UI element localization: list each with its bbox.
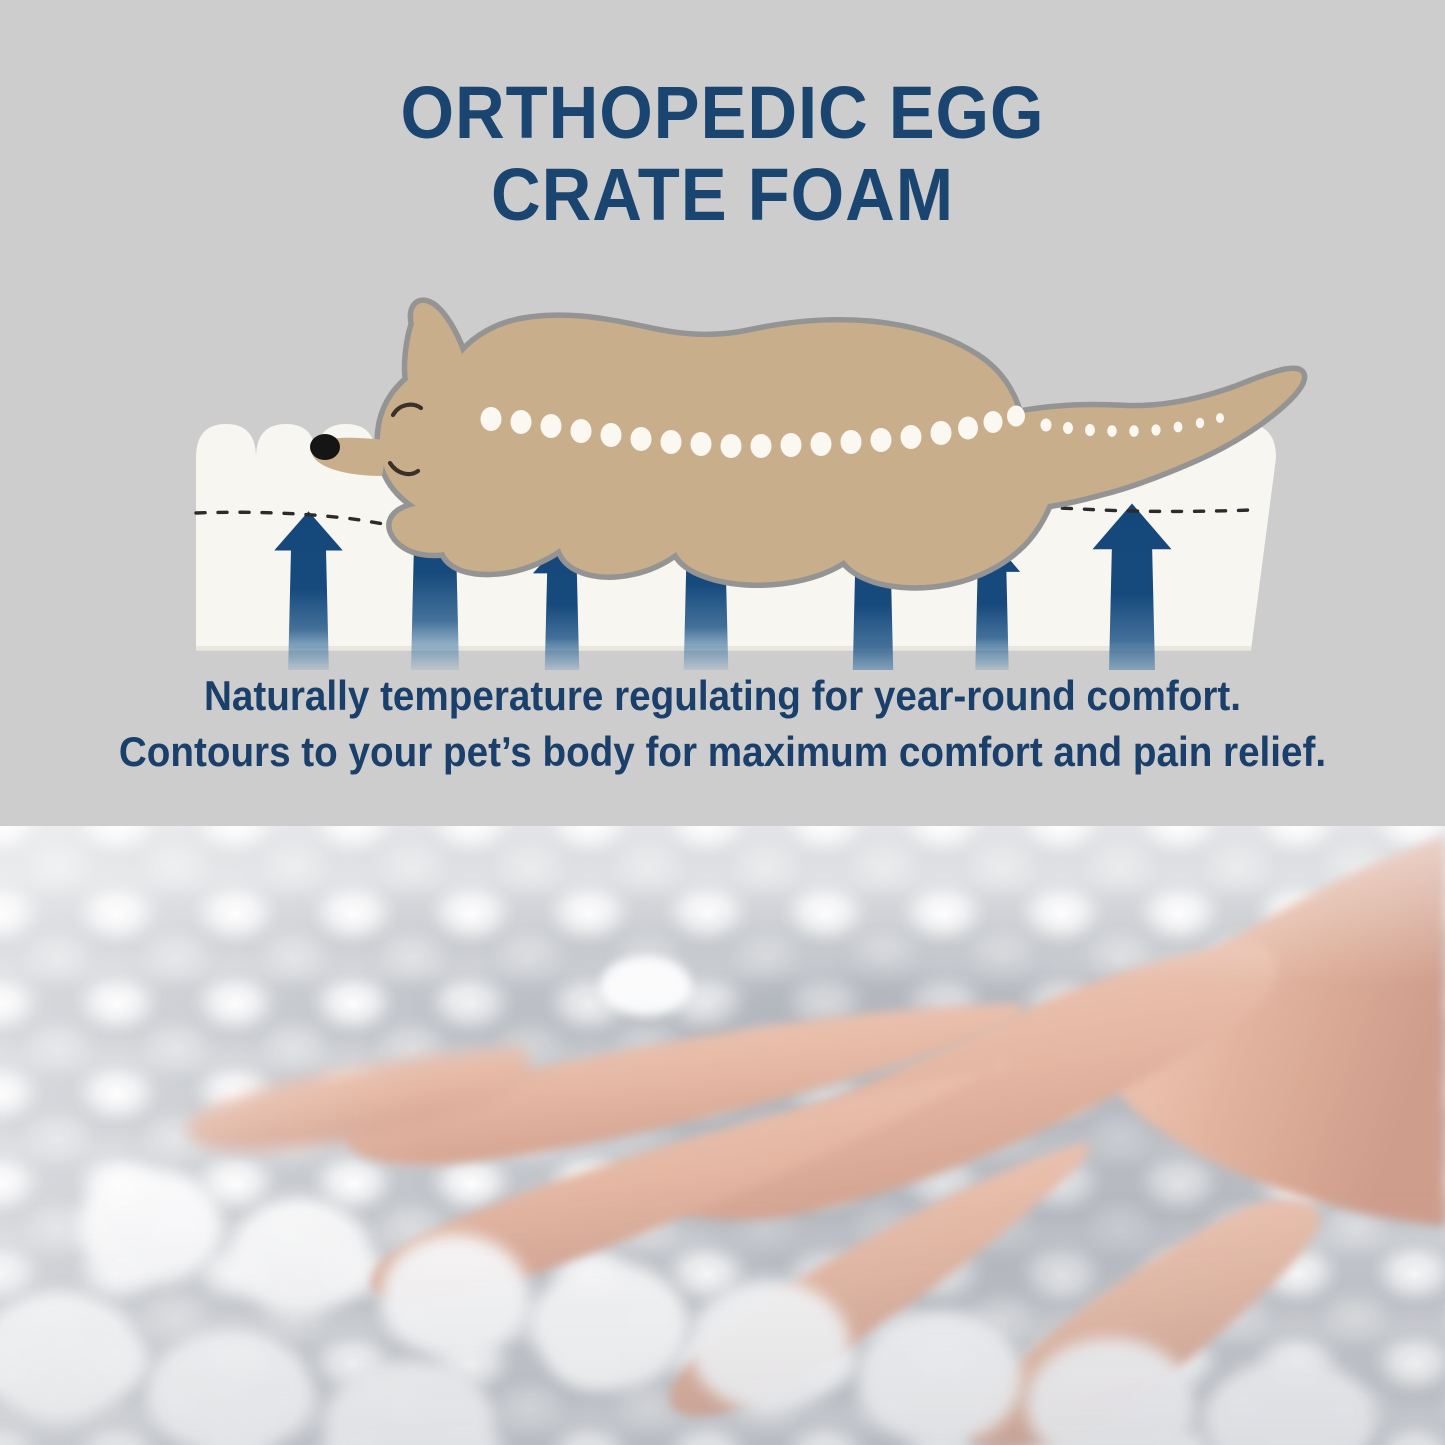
caption-text: Naturally temperature regulating for yea… bbox=[58, 668, 1387, 780]
photo-lighting-overlay bbox=[0, 826, 1445, 1445]
foam-photo bbox=[0, 826, 1445, 1445]
page-title: ORTHOPEDIC EGG CRATE FOAM bbox=[51, 72, 1395, 236]
dog-nose bbox=[310, 434, 340, 460]
caption-line-1: Naturally temperature regulating for yea… bbox=[58, 668, 1387, 724]
page-title-line-1: ORTHOPEDIC EGG bbox=[51, 72, 1395, 154]
infographic-panel: ORTHOPEDIC EGG CRATE FOAM bbox=[0, 0, 1445, 826]
page-title-line-2: CRATE FOAM bbox=[51, 154, 1395, 236]
caption-line-2: Contours to your pet’s body for maximum … bbox=[58, 724, 1387, 780]
foam-support-diagram bbox=[0, 280, 1445, 670]
